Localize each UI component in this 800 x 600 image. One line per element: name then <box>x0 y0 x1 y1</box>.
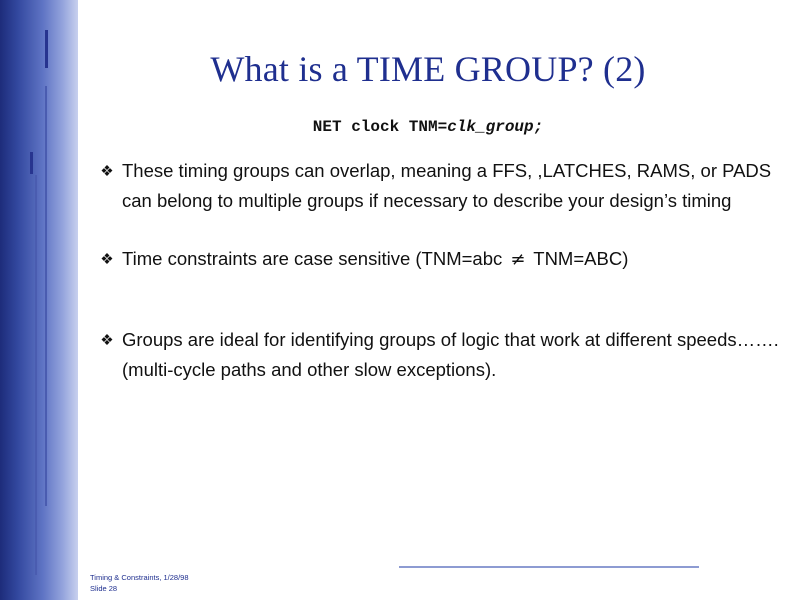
bullet-list: ❖ These timing groups can overlap, meani… <box>92 156 782 413</box>
page-title: What is a TIME GROUP? (2) <box>78 48 778 90</box>
footer: Timing & Constraints, 1/28/98 Slide 28 <box>90 572 189 594</box>
footer-line-title: Timing & Constraints, 1/28/98 <box>90 572 189 583</box>
slide: What is a TIME GROUP? (2) NET clock TNM=… <box>0 0 800 600</box>
bullet-diamond-icon: ❖ <box>92 244 122 275</box>
band-accent-line-top <box>45 30 48 68</box>
left-decorative-band <box>0 0 78 600</box>
code-italic-value: clk_group; <box>447 118 543 136</box>
bullet-diamond-icon: ❖ <box>92 156 122 187</box>
bullet-text-case-sensitive: Time constraints are case sensitive (TNM… <box>122 244 782 275</box>
not-equal-icon: ≠ <box>507 249 528 270</box>
footer-line-slide-number: Slide 28 <box>90 583 189 594</box>
bullet-text-overlap: These timing groups can overlap, meaning… <box>122 156 782 216</box>
code-snippet: NET clock TNM=clk_group; <box>78 118 778 136</box>
case-sensitive-text-before: Time constraints are case sensitive (TNM… <box>122 248 507 269</box>
case-sensitive-text-after: TNM=ABC) <box>528 248 628 269</box>
footer-divider <box>399 566 699 568</box>
band-vertical-line-2 <box>35 175 37 575</box>
list-item: ❖ These timing groups can overlap, meani… <box>92 156 782 216</box>
code-prefix: NET clock TNM= <box>313 118 447 136</box>
bullet-text-groups-ideal: Groups are ideal for identifying groups … <box>122 325 782 385</box>
list-item: ❖ Time constraints are case sensitive (T… <box>92 244 782 275</box>
list-item: ❖ Groups are ideal for identifying group… <box>92 325 782 385</box>
bullet-diamond-icon: ❖ <box>92 325 122 356</box>
band-vertical-line-1 <box>45 86 47 506</box>
band-accent-line-mid <box>30 152 33 174</box>
